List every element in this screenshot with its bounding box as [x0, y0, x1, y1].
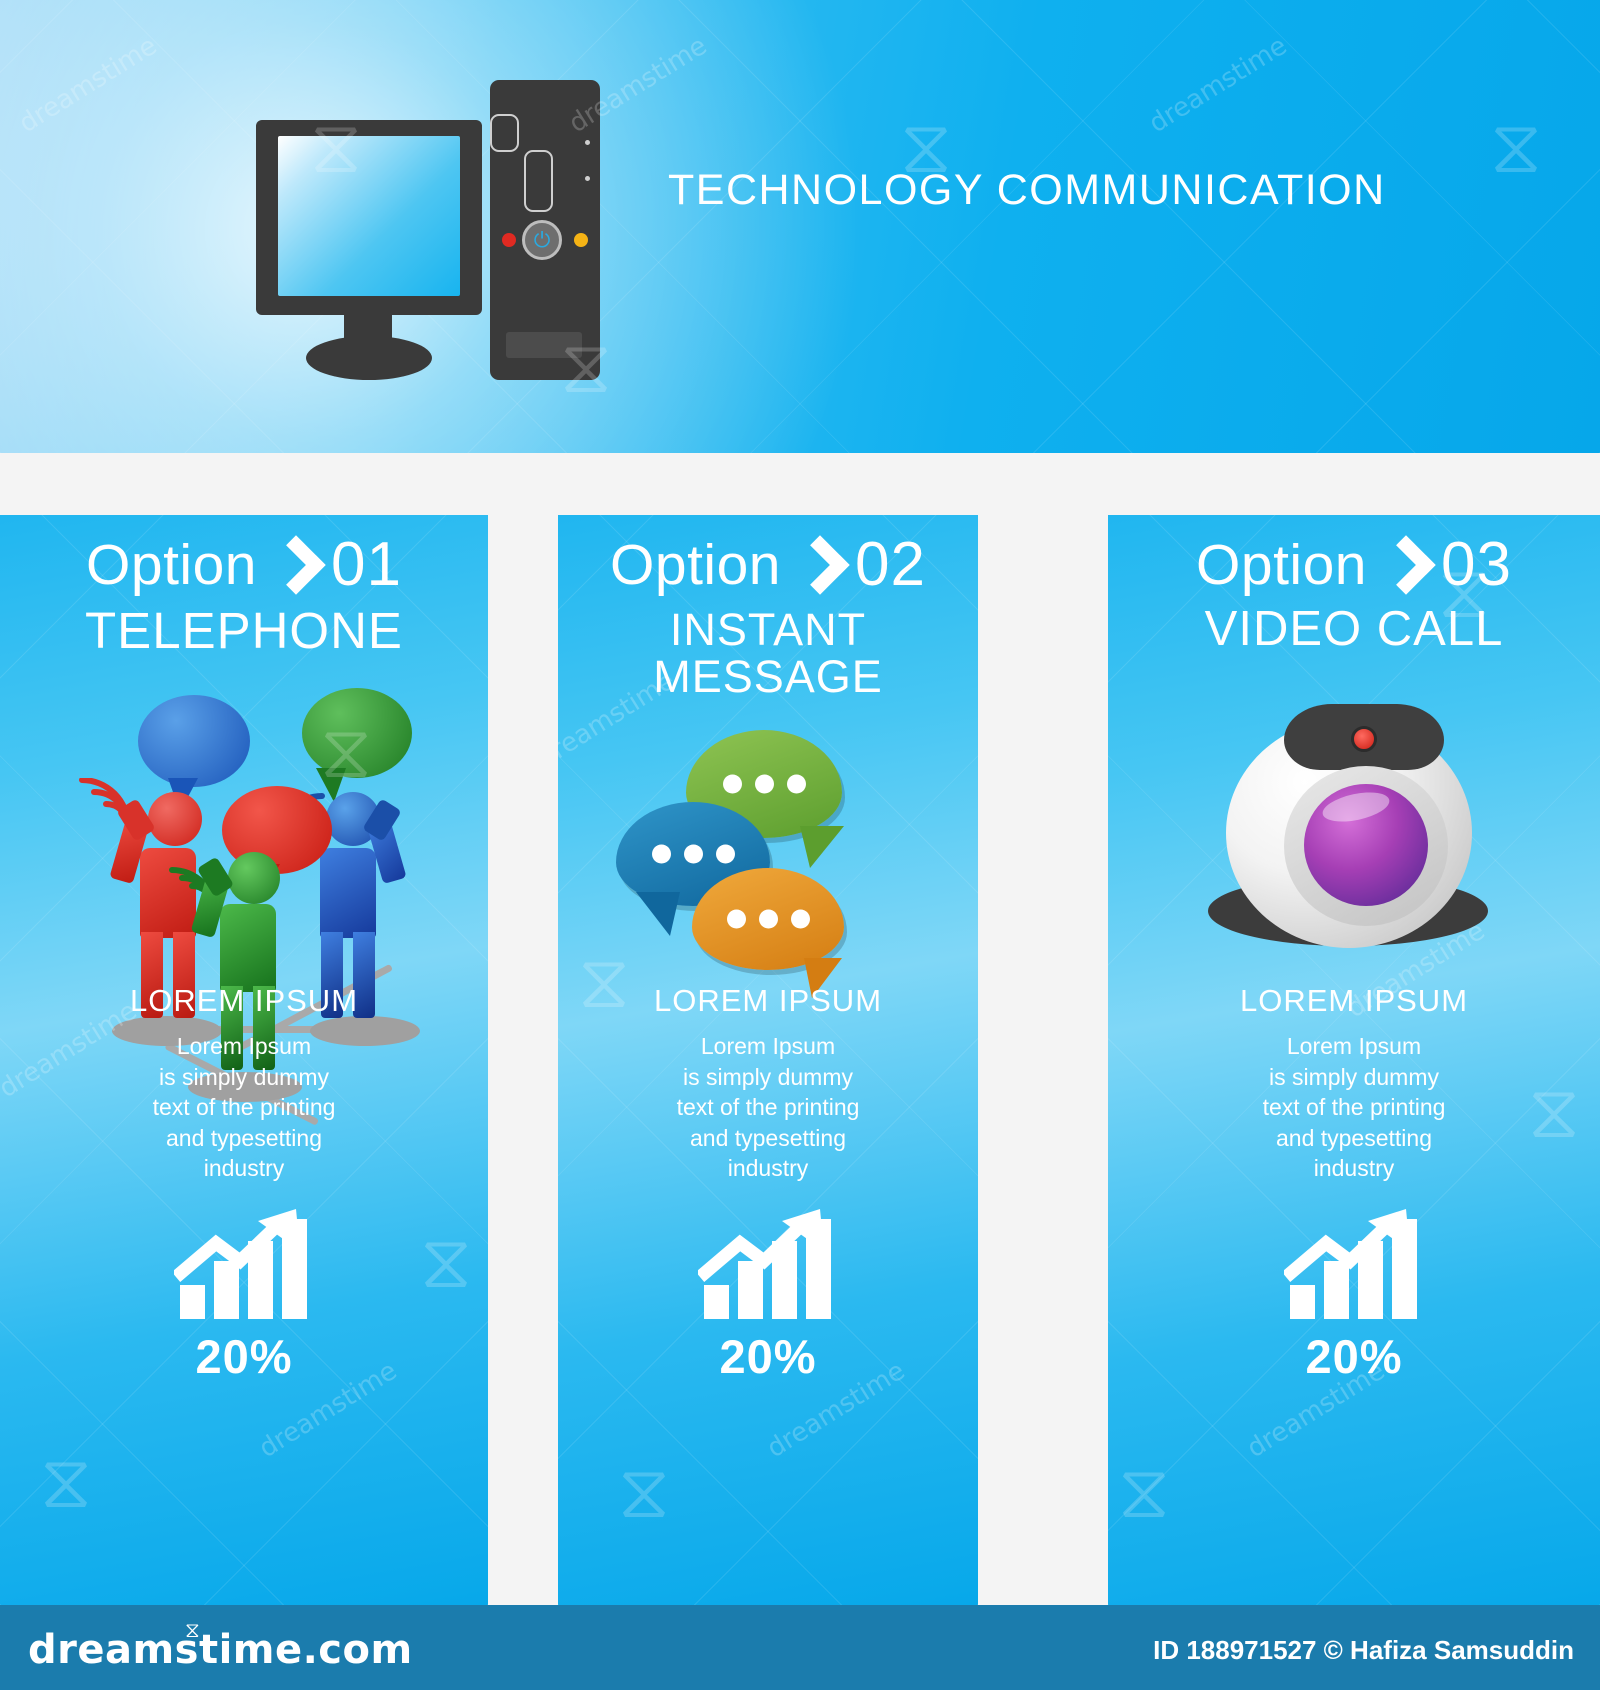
stat-block: 20% — [1108, 1215, 1600, 1384]
bubble-tail — [636, 892, 680, 936]
people-on-phone-network-icon — [0, 680, 488, 980]
typing-dots-icon — [616, 845, 770, 864]
option-header: Option 03 VIDEO CALL — [1108, 529, 1600, 655]
typing-dots-icon — [686, 775, 842, 794]
watermark-text: dreamstime — [14, 31, 162, 139]
power-button-icon: ⏻ — [522, 220, 562, 260]
dot — [684, 845, 703, 864]
lorem-body: Lorem Ipsum is simply dummy text of the … — [1108, 1031, 1600, 1184]
chart-bar — [282, 1219, 307, 1319]
spiral-watermark-icon: ⧖ — [40, 1445, 92, 1519]
monitor-base — [306, 336, 432, 380]
option-number: 01 — [331, 529, 402, 600]
dreamstime-logo[interactable]: dreamstime.com — [28, 1627, 413, 1673]
figure-torso — [320, 848, 376, 938]
monitor-screen — [278, 136, 460, 296]
growth-bar-chart-icon — [704, 1215, 832, 1319]
option-title: VIDEO CALL — [1108, 604, 1600, 655]
figure-head — [148, 792, 202, 846]
page-title: TECHNOLOGY COMMUNICATION — [668, 166, 1386, 215]
option-label: Option — [610, 532, 781, 598]
figure-torso — [220, 904, 276, 992]
chart-bar — [1324, 1261, 1349, 1319]
stat-block: 20% — [0, 1215, 488, 1384]
lorem-block: LOREM IPSUM Lorem Ipsum is simply dummy … — [0, 983, 488, 1184]
yellow-led-icon — [574, 233, 588, 247]
bay-dot-icon — [585, 140, 590, 145]
lorem-body: Lorem Ipsum is simply dummy text of the … — [558, 1031, 978, 1184]
speech-bubble-green — [302, 688, 412, 778]
dot — [787, 775, 806, 794]
chevron-right-icon — [271, 538, 317, 592]
front-panel-slot — [506, 332, 582, 358]
option-row: Option 01 — [0, 529, 488, 600]
lorem-block: LOREM IPSUM Lorem Ipsum is simply dummy … — [558, 983, 978, 1184]
chart-bar — [214, 1261, 239, 1319]
dot — [755, 775, 774, 794]
lorem-heading: LOREM IPSUM — [1108, 983, 1600, 1019]
header-banner: ⏻ TECHNOLOGY COMMUNICATION dreamstime dr… — [0, 0, 1600, 453]
computer-tower: ⏻ — [490, 80, 600, 380]
typing-dots-icon — [692, 910, 844, 929]
option-label: Option — [86, 532, 257, 598]
webcam-icon — [1108, 690, 1600, 970]
option-title: INSTANT MESSAGE — [558, 606, 978, 701]
option-number: 03 — [1441, 529, 1512, 600]
growth-bar-chart-icon — [1290, 1215, 1418, 1319]
percent-value: 20% — [1108, 1329, 1600, 1384]
chart-bar — [180, 1285, 205, 1319]
lorem-body: Lorem Ipsum is simply dummy text of the … — [0, 1031, 488, 1184]
chevron-right-icon — [1381, 538, 1427, 592]
dot — [723, 775, 742, 794]
lorem-block: LOREM IPSUM Lorem Ipsum is simply dummy … — [1108, 983, 1600, 1184]
chart-bar — [248, 1241, 273, 1319]
monitor-body — [256, 120, 482, 315]
chart-bar — [1392, 1219, 1417, 1319]
stat-block: 20% — [558, 1215, 978, 1384]
percent-value: 20% — [0, 1329, 488, 1384]
chat-bubbles-icon — [558, 720, 978, 980]
chat-bubble-orange — [692, 868, 844, 970]
spiral-watermark-icon: ⧖ — [618, 1455, 670, 1529]
chart-bar — [806, 1219, 831, 1319]
dot — [716, 845, 735, 864]
dot — [727, 910, 746, 929]
percent-value: 20% — [558, 1329, 978, 1384]
option-card-telephone[interactable]: Option 01 TELEPHONE — [0, 515, 488, 1605]
lorem-heading: LOREM IPSUM — [558, 983, 978, 1019]
watermark-text: dreamstime — [1144, 31, 1292, 139]
spiral-watermark-icon: ⧖ — [1490, 110, 1542, 184]
spiral-logo-icon: ⧖ — [185, 1619, 200, 1643]
option-card-instant-message[interactable]: Option 02 INSTANT MESSAGE — [558, 515, 978, 1605]
speech-bubble-blue — [138, 695, 250, 787]
option-number: 02 — [855, 529, 926, 600]
dot — [791, 910, 810, 929]
chart-bar — [704, 1285, 729, 1319]
option-title: TELEPHONE — [0, 604, 488, 658]
lorem-heading: LOREM IPSUM — [0, 983, 488, 1019]
dot — [759, 910, 778, 929]
growth-bar-chart-icon — [180, 1215, 308, 1319]
webcam-led-icon — [1351, 726, 1377, 752]
image-credit: ID 188971527 © Hafiza Samsuddin — [1153, 1635, 1574, 1666]
diagonal-pattern-overlay — [0, 0, 1600, 453]
bay-dot-icon — [585, 176, 590, 181]
option-card-video-call[interactable]: Option 03 VIDEO CALL LOREM IPSUM Lorem I… — [1108, 515, 1600, 1605]
dot — [652, 845, 671, 864]
chart-bar — [772, 1241, 797, 1319]
footer-bar: dreamstime.com ⧖ ID 188971527 © Hafiza S… — [0, 1605, 1600, 1690]
chart-bar — [1358, 1241, 1383, 1319]
figure-head — [228, 852, 280, 904]
red-led-icon — [502, 233, 516, 247]
desktop-computer-icon: ⏻ — [248, 78, 648, 388]
chart-bar — [1290, 1285, 1315, 1319]
option-label: Option — [1196, 532, 1367, 598]
drive-bay-icon — [490, 114, 519, 152]
drive-bay-icon — [524, 150, 553, 212]
option-row: Option 02 — [558, 529, 978, 600]
chevron-right-icon — [795, 538, 841, 592]
option-header: Option 01 TELEPHONE — [0, 529, 488, 658]
power-symbol-icon: ⏻ — [534, 230, 551, 251]
option-row: Option 03 — [1108, 529, 1600, 600]
spiral-watermark-icon: ⧖ — [1118, 1455, 1170, 1529]
infographic-canvas: ⏻ TECHNOLOGY COMMUNICATION dreamstime dr… — [0, 0, 1600, 1690]
option-header: Option 02 INSTANT MESSAGE — [558, 529, 978, 701]
bubble-tail — [800, 826, 844, 868]
chart-bar — [738, 1261, 763, 1319]
